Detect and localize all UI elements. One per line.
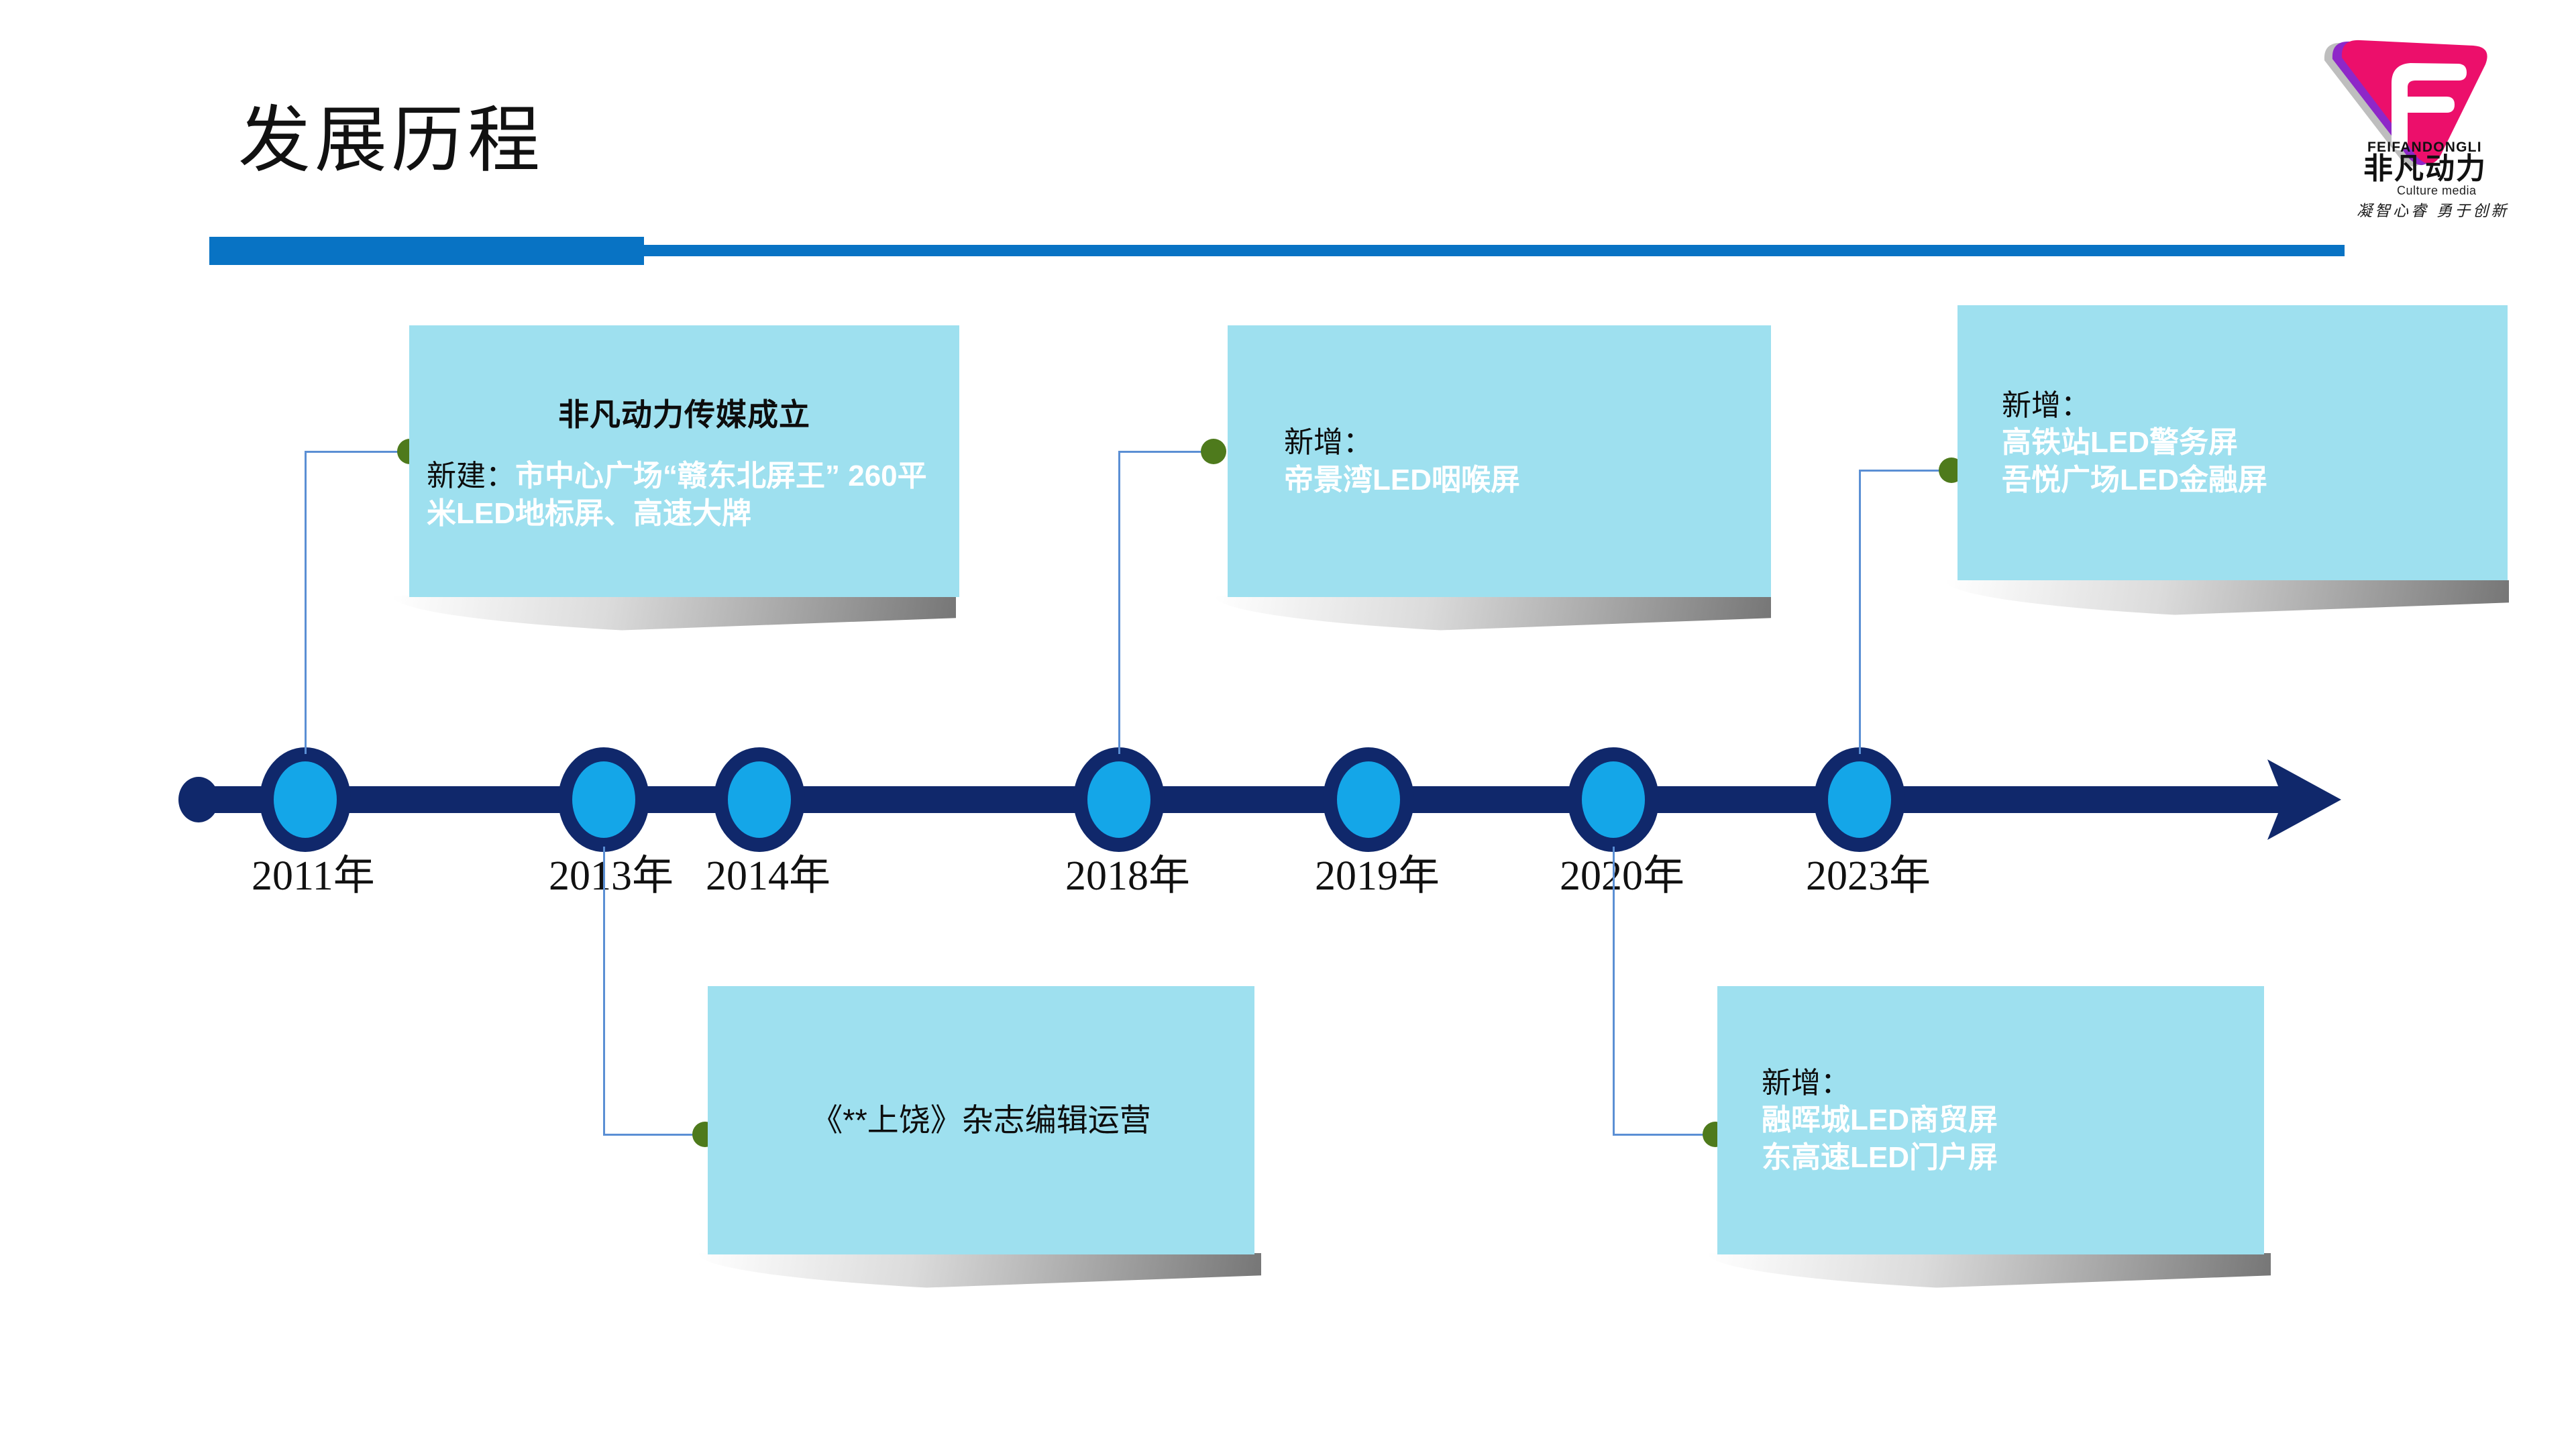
timeline-arrow-icon bbox=[2267, 759, 2341, 840]
card-2020-line-1: 融晖城LED商贸屏 bbox=[1762, 1102, 2247, 1138]
card-2020-line-2: 东高速LED门户屏 bbox=[1762, 1139, 2247, 1176]
timeline-start-cap bbox=[178, 777, 219, 822]
title-underline-thick bbox=[209, 237, 644, 265]
year-label-2011: 2011年 bbox=[252, 841, 375, 902]
card-2013-body: 《**上饶》杂志编辑运营 bbox=[708, 1100, 1254, 1140]
card-2018-lead: 新增： bbox=[1284, 424, 1754, 461]
card-shadow-2013 bbox=[698, 1253, 1261, 1296]
timeline-marker-2013 bbox=[558, 747, 649, 852]
year-label-2018: 2018年 bbox=[1065, 841, 1190, 902]
year-label-2023: 2023年 bbox=[1806, 841, 1931, 902]
timeline-marker-2014 bbox=[714, 747, 805, 852]
card-2011-body: 新建：市中心广场“赣东北屏王” 260平米LED地标屏、高速大牌 bbox=[409, 458, 959, 532]
card-2018-body: 新增： 帝景湾LED咽喉屏 bbox=[1228, 424, 1771, 498]
timeline-marker-2023 bbox=[1814, 747, 1905, 852]
card-shadow-2023 bbox=[1945, 580, 2509, 623]
year-label-2020: 2020年 bbox=[1560, 841, 1684, 902]
timeline-marker-2020 bbox=[1568, 747, 1659, 852]
card-2023-lead: 新增： bbox=[2002, 387, 2490, 424]
logo-tagline: 凝智心睿 勇于创新 bbox=[2357, 203, 2509, 220]
page-title: 发展历程 bbox=[238, 101, 544, 180]
card-2023[interactable]: 新增： 高铁站LED警务屏 吾悦广场LED金融屏 bbox=[1957, 305, 2508, 580]
card-shadow-2020 bbox=[1707, 1253, 2271, 1296]
timeline-marker-2018 bbox=[1073, 747, 1165, 852]
year-label-2014: 2014年 bbox=[706, 841, 830, 902]
card-2011[interactable]: 非凡动力传媒成立 新建：市中心广场“赣东北屏王” 260平米LED地标屏、高速大… bbox=[409, 325, 959, 597]
year-label-2019: 2019年 bbox=[1315, 841, 1440, 902]
card-shadow-2018 bbox=[1214, 596, 1771, 639]
timeline-marker-2019 bbox=[1323, 747, 1414, 852]
card-2011-title: 非凡动力传媒成立 bbox=[409, 390, 959, 435]
company-logo: FEIFANDONGLI 非凡动力 Culture media 凝智心睿 勇于创… bbox=[2298, 25, 2519, 220]
card-2020[interactable]: 新增： 融晖城LED商贸屏 东高速LED门户屏 bbox=[1717, 986, 2264, 1254]
logo-name: 非凡动力 bbox=[2363, 152, 2487, 186]
slide-canvas: 发展历程 FEIFANDONGLI 非凡动力 Culture media 凝智心… bbox=[0, 0, 2576, 1449]
card-2020-lead: 新增： bbox=[1762, 1065, 2247, 1102]
connector-dot-2018 bbox=[1201, 439, 1226, 464]
timeline-marker-2011 bbox=[260, 747, 351, 852]
card-2011-lead: 新建： bbox=[427, 460, 515, 492]
timeline-bar bbox=[199, 786, 2292, 813]
card-2018-highlight: 帝景湾LED咽喉屏 bbox=[1284, 462, 1754, 498]
card-2018[interactable]: 新增： 帝景湾LED咽喉屏 bbox=[1228, 325, 1771, 597]
card-2023-line-2: 吾悦广场LED金融屏 bbox=[2002, 462, 2490, 498]
year-label-2013: 2013年 bbox=[549, 841, 674, 902]
title-underline-thin bbox=[641, 245, 2345, 256]
card-2013[interactable]: 《**上饶》杂志编辑运营 bbox=[708, 986, 1254, 1254]
logo-sub: Culture media bbox=[2397, 184, 2477, 197]
card-2020-body: 新增： 融晖城LED商贸屏 东高速LED门户屏 bbox=[1717, 1065, 2264, 1176]
card-shadow-2011 bbox=[392, 596, 956, 639]
card-2023-line-1: 高铁站LED警务屏 bbox=[2002, 424, 2490, 461]
logo-mark-icon: FEIFANDONGLI 非凡动力 Culture media 凝智心睿 勇于创… bbox=[2298, 25, 2519, 220]
card-2023-body: 新增： 高铁站LED警务屏 吾悦广场LED金融屏 bbox=[1957, 387, 2508, 498]
